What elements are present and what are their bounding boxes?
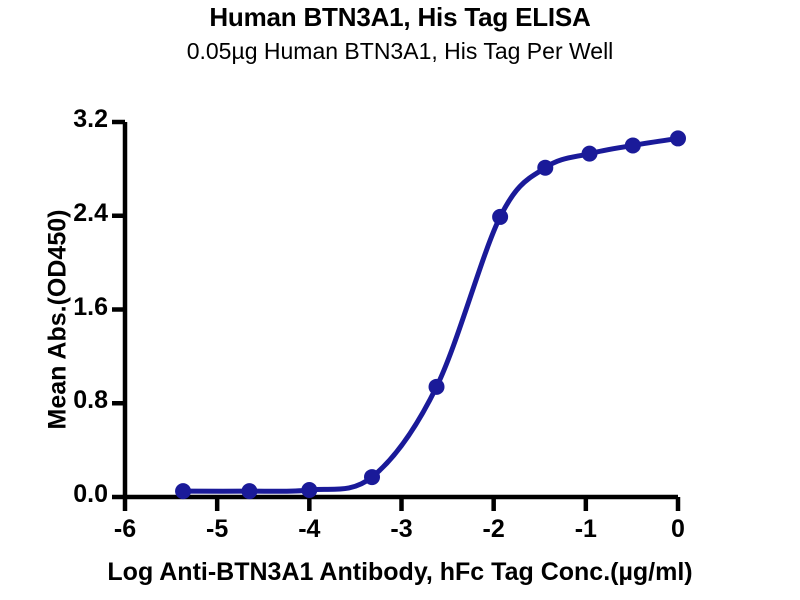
- x-tick-label-3: -3: [372, 515, 432, 544]
- series-line-0: [183, 138, 678, 491]
- data-point-9: [670, 130, 686, 146]
- y-tick-label-1: 0.8: [38, 386, 108, 415]
- y-tick-label-2: 1.6: [38, 293, 108, 322]
- data-point-5: [492, 209, 508, 225]
- y-tick-label-4: 3.2: [38, 105, 108, 134]
- y-tick-label-0: 0.0: [38, 480, 108, 509]
- data-point-1: [241, 483, 257, 499]
- x-tick-label-1: -5: [187, 515, 247, 544]
- x-tick-label-0: -6: [95, 515, 155, 544]
- x-tick-label-2: -4: [279, 515, 339, 544]
- chart-title: Human BTN3A1, His Tag ELISA: [0, 2, 800, 33]
- plot-area: [0, 0, 800, 600]
- data-point-6: [537, 160, 553, 176]
- x-tick-label-5: -1: [556, 515, 616, 544]
- y-tick-label-3: 2.4: [38, 199, 108, 228]
- x-tick-label-6: 0: [648, 515, 708, 544]
- x-axis-title: Log Anti-BTN3A1 Antibody, hFc Tag Conc.(…: [0, 558, 800, 587]
- data-point-3: [364, 469, 380, 485]
- x-tick-label-4: -2: [464, 515, 524, 544]
- chart-subtitle: 0.05µg Human BTN3A1, His Tag Per Well: [0, 38, 800, 65]
- data-series: [175, 130, 686, 499]
- data-point-8: [625, 137, 641, 153]
- elisa-binding-curve-chart: Human BTN3A1, His Tag ELISA 0.05µg Human…: [0, 0, 800, 600]
- data-point-2: [301, 482, 317, 498]
- data-point-0: [175, 483, 191, 499]
- data-point-4: [429, 379, 445, 395]
- data-point-7: [582, 146, 598, 162]
